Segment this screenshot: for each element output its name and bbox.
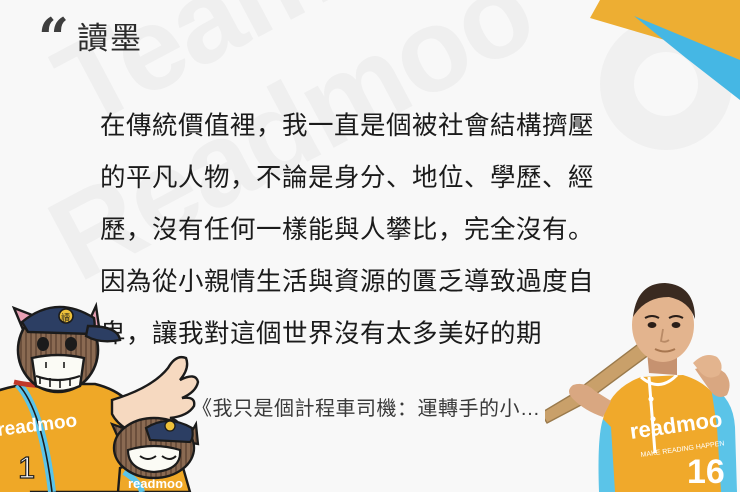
- quote-line: 的平凡人物，不論是身分、地位、學歷、經: [100, 152, 630, 204]
- quote-mark-icon: “: [38, 22, 68, 55]
- mascot-jersey-number: 1: [18, 450, 35, 485]
- athlete-jersey-number: 16: [687, 453, 725, 491]
- quote-line: 在傳統價值裡，我一直是個被社會結構擠壓: [100, 100, 630, 152]
- athlete-right-hand: [693, 355, 722, 378]
- mascot-large-head: 讀: [14, 306, 120, 392]
- mascot-cap-emblem: 讀: [61, 312, 70, 323]
- brand-name: 讀墨: [77, 23, 143, 54]
- book-title: 《我只是個計程車司機：運轉手的小…: [192, 392, 541, 421]
- mascot-cap: [22, 307, 95, 334]
- athlete-left-hand: [569, 384, 611, 417]
- athlete-photo: readmoo MAKE READING HAPPEN 16: [545, 277, 740, 492]
- brand-logo: “ 讀墨: [38, 22, 143, 55]
- mascot-illustration: readmoo 1 讀: [0, 292, 210, 492]
- corner-ribbon-decoration: [590, 0, 740, 115]
- quote-card: Team Readmoo “ 讀墨 在傳統價值裡，我一直是個被社會結構擠壓 的平…: [0, 0, 740, 492]
- quote-line: 歷，沒有任何一樣能與人攀比，完全沒有。: [100, 204, 630, 256]
- mascot-small: readmoo: [112, 418, 198, 492]
